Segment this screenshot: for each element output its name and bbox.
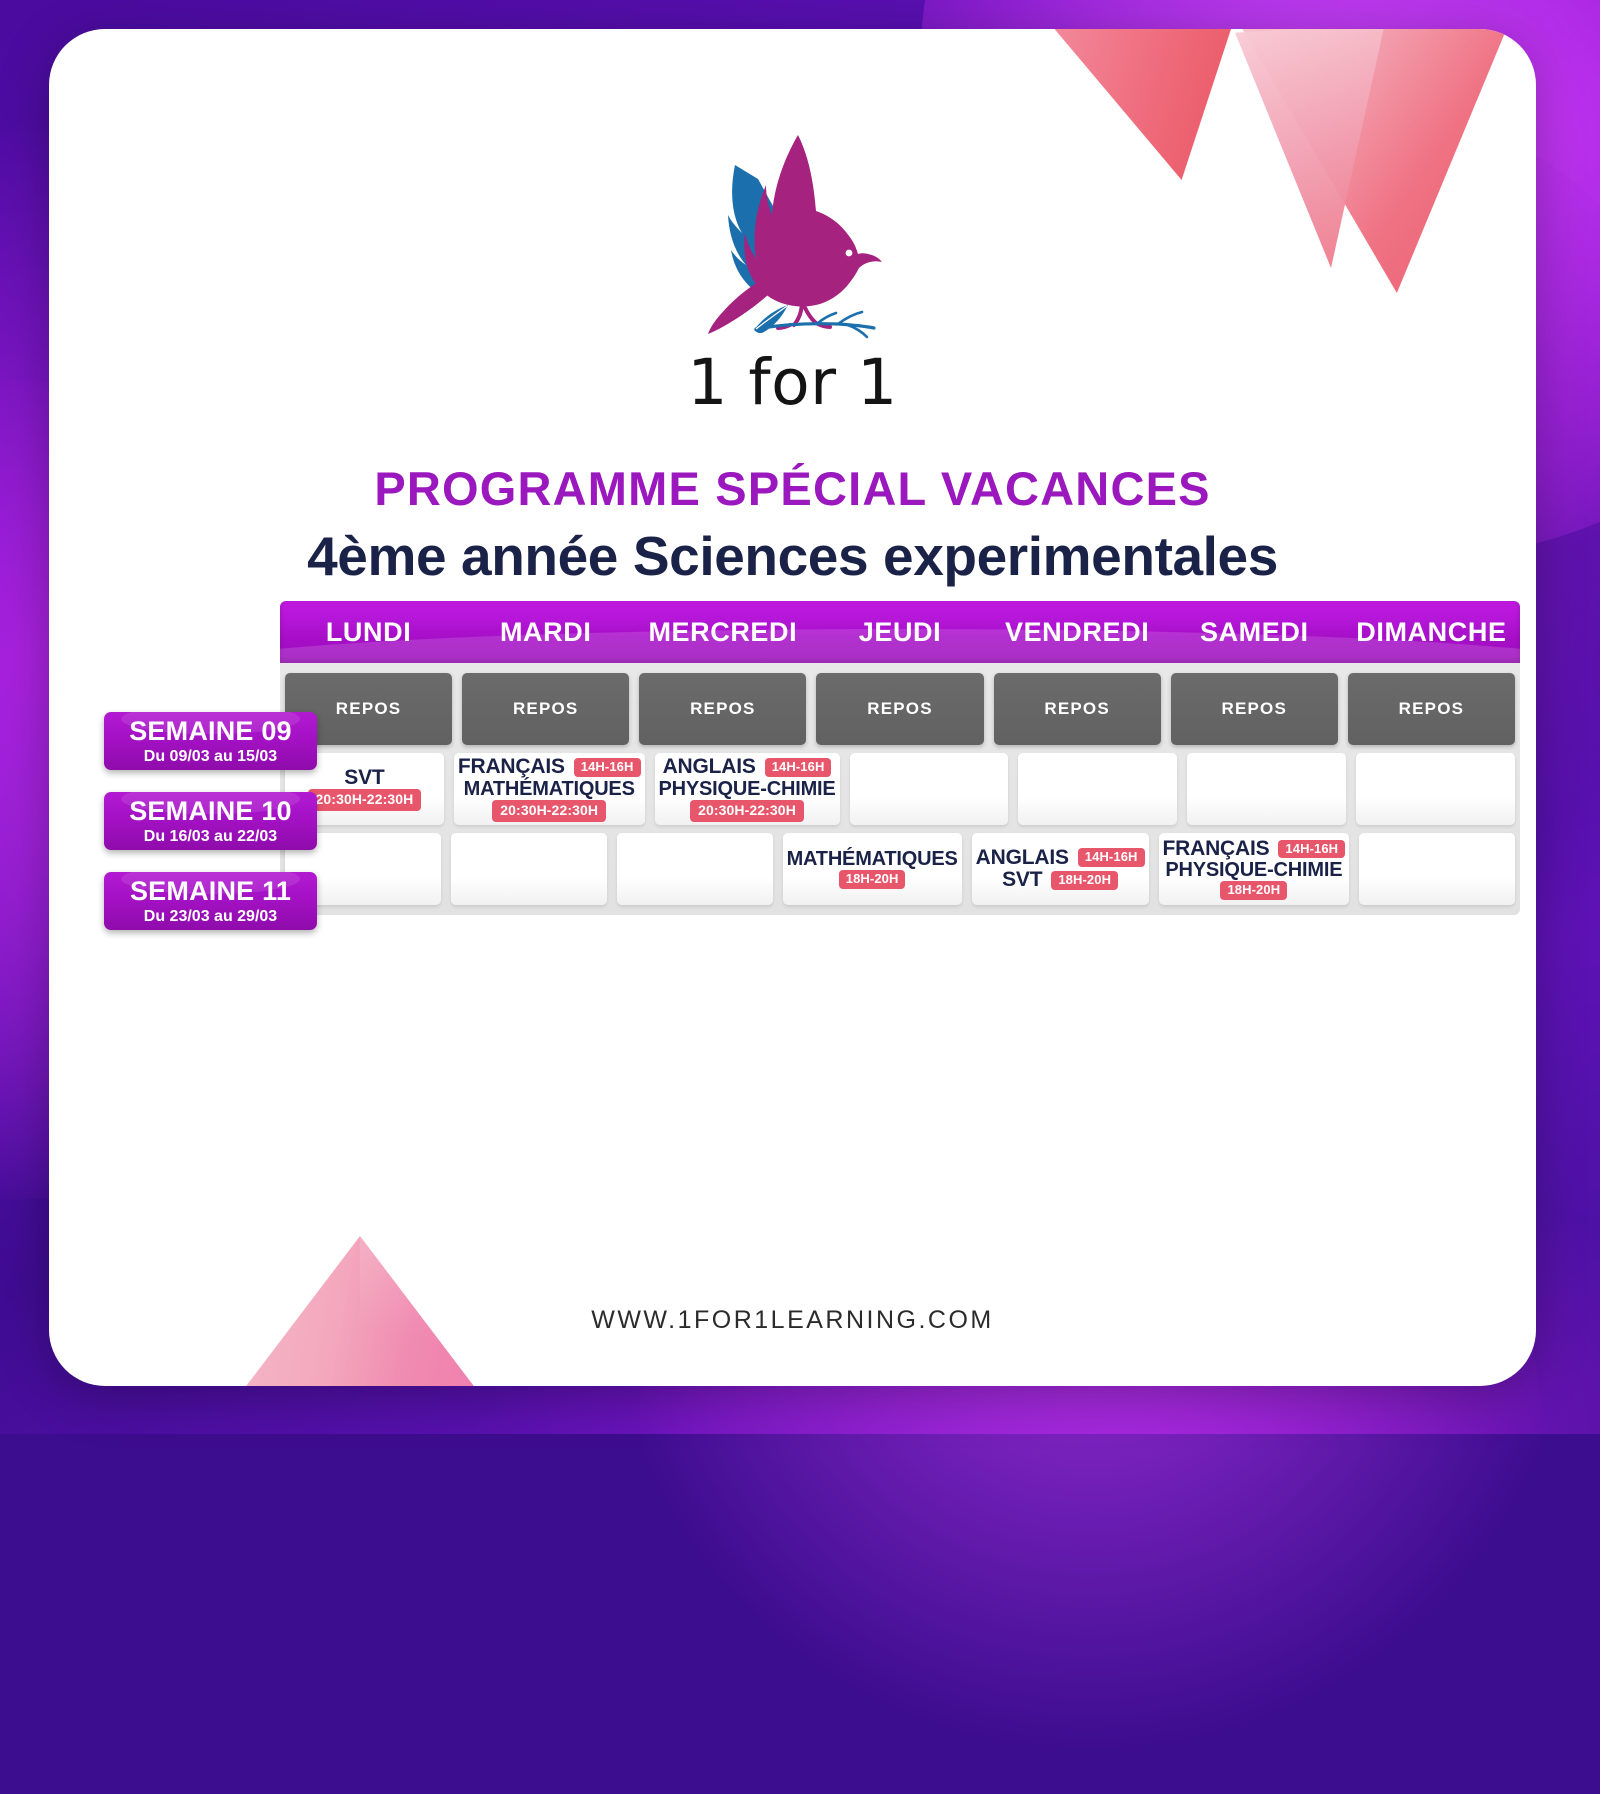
lesson-time-badge: 18H-20H [1051, 871, 1118, 890]
lesson-line: SVT18H-20H [1002, 869, 1118, 891]
schedule-cell-repos[interactable]: REPOS [1171, 673, 1338, 745]
repos-label: REPOS [867, 699, 933, 719]
lesson-subject: SVT [344, 767, 384, 789]
day-header-mardi: MARDI [457, 601, 634, 663]
lesson-time-badge: 18H-20H [1220, 881, 1287, 900]
repos-label: REPOS [336, 699, 402, 719]
week-badge-title: SEMAINE 11 [130, 876, 291, 907]
schedule-cell-repos[interactable]: REPOS [639, 673, 806, 745]
schedule-cell-repos[interactable]: REPOS [462, 673, 629, 745]
schedule-cell-empty[interactable] [1356, 753, 1515, 825]
lesson-line: MATHÉMATIQUES [787, 849, 958, 870]
day-header-mercredi: MERCREDI [634, 601, 811, 663]
schedule-week-row: MATHÉMATIQUES18H-20HANGLAIS14H-16HSVT18H… [280, 833, 1520, 905]
lesson-subject: MATHÉMATIQUES [464, 779, 635, 800]
lesson-line: PHYSIQUE-CHIMIE [1165, 860, 1342, 881]
week-badge-column: SEMAINE 09Du 09/03 au 15/03SEMAINE 10Du … [104, 712, 317, 952]
schedule-cell-lesson[interactable]: ANGLAIS14H-16HSVT18H-20H [972, 833, 1149, 905]
day-header-samedi: SAMEDI [1166, 601, 1343, 663]
bird-logo-icon [698, 129, 888, 344]
schedule-cell-lesson[interactable]: MATHÉMATIQUES18H-20H [783, 833, 962, 905]
schedule-cell-empty[interactable] [451, 833, 607, 905]
week-badge-range: Du 23/03 au 29/03 [144, 908, 277, 926]
week-badge-range: Du 09/03 au 15/03 [144, 748, 277, 766]
lesson-line: 20:30H-22:30H [308, 789, 422, 811]
week-badge[interactable]: SEMAINE 11Du 23/03 au 29/03 [104, 872, 317, 930]
lesson-subject: FRANÇAIS [1163, 838, 1270, 860]
day-header-vendredi: VENDREDI [989, 601, 1166, 663]
lesson-subject: SVT [1002, 869, 1042, 891]
schedule-cell-empty[interactable] [850, 753, 1009, 825]
lesson-time-badge: 14H-16H [1078, 848, 1145, 867]
lesson-time-badge: 20:30H-22:30H [308, 789, 422, 811]
day-header-jeudi: JEUDI [811, 601, 988, 663]
schedule-week-row: REPOSREPOSREPOSREPOSREPOSREPOSREPOS [280, 673, 1520, 745]
lesson-line: ANGLAIS14H-16H [663, 756, 832, 778]
schedule-week-row: SVT20:30H-22:30HFRANÇAIS14H-16HMATHÉMATI… [280, 753, 1520, 825]
day-header-dimanche: DIMANCHE [1343, 601, 1520, 663]
schedule-cell-lesson[interactable]: ANGLAIS14H-16HPHYSIQUE-CHIMIE20:30H-22:3… [655, 753, 840, 825]
repos-label: REPOS [513, 699, 579, 719]
lesson-time-badge: 14H-16H [1278, 840, 1345, 859]
brand-logo: 1 for 1 [49, 129, 1536, 419]
schedule-cell-repos[interactable]: REPOS [994, 673, 1161, 745]
repos-label: REPOS [690, 699, 756, 719]
week-badge[interactable]: SEMAINE 10Du 16/03 au 22/03 [104, 792, 317, 850]
lesson-line: FRANÇAIS14H-16H [1163, 838, 1346, 860]
days-header-bar: LUNDIMARDIMERCREDIJEUDIVENDREDISAMEDIDIM… [280, 601, 1520, 663]
lesson-subject: MATHÉMATIQUES [787, 849, 958, 870]
footer-url: WWW.1FOR1LEARNING.COM [49, 1306, 1536, 1335]
repos-label: REPOS [1399, 699, 1465, 719]
repos-label: REPOS [1222, 699, 1288, 719]
repos-label: REPOS [1044, 699, 1110, 719]
lesson-line: SVT [344, 767, 384, 789]
lesson-line: MATHÉMATIQUES [464, 779, 635, 800]
lesson-line: FRANÇAIS14H-16H [458, 756, 641, 778]
schedule-grid: REPOSREPOSREPOSREPOSREPOSREPOSREPOSSVT20… [280, 663, 1520, 915]
page-subtitle: 4ème année Sciences experimentales [49, 524, 1536, 588]
schedule-cell-empty[interactable] [617, 833, 773, 905]
lesson-time-badge: 14H-16H [765, 758, 832, 777]
lesson-line: 20:30H-22:30H [690, 800, 804, 822]
schedule-cell-empty[interactable] [1018, 753, 1177, 825]
page-title: PROGRAMME SPÉCIAL VACANCES [49, 461, 1536, 516]
week-badge-title: SEMAINE 09 [129, 716, 292, 747]
schedule-cell-empty[interactable] [1359, 833, 1515, 905]
schedule-cell-empty[interactable] [1187, 753, 1346, 825]
lesson-subject: PHYSIQUE-CHIMIE [1165, 860, 1342, 881]
lesson-time-badge: 20:30H-22:30H [690, 800, 804, 822]
week-badge[interactable]: SEMAINE 09Du 09/03 au 15/03 [104, 712, 317, 770]
schedule-cell-lesson[interactable]: FRANÇAIS14H-16HPHYSIQUE-CHIMIE18H-20H [1159, 833, 1350, 905]
schedule-cell-repos[interactable]: REPOS [816, 673, 983, 745]
poster-card: 1 for 1 PROGRAMME SPÉCIAL VACANCES 4ème … [49, 29, 1536, 1386]
lesson-line: 18H-20H [839, 870, 906, 889]
schedule-cell-lesson[interactable]: FRANÇAIS14H-16HMATHÉMATIQUES20:30H-22:30… [454, 753, 645, 825]
day-header-lundi: LUNDI [280, 601, 457, 663]
lesson-line: 20:30H-22:30H [492, 800, 606, 822]
lesson-time-badge: 14H-16H [574, 758, 641, 777]
lesson-subject: PHYSIQUE-CHIMIE [659, 779, 836, 800]
lesson-time-badge: 18H-20H [839, 870, 906, 889]
week-badge-range: Du 16/03 au 22/03 [144, 828, 277, 846]
lesson-line: PHYSIQUE-CHIMIE [659, 779, 836, 800]
lesson-subject: ANGLAIS [976, 847, 1069, 869]
lesson-line: 18H-20H [1220, 881, 1287, 900]
schedule-cell-repos[interactable]: REPOS [1348, 673, 1515, 745]
lesson-time-badge: 20:30H-22:30H [492, 800, 606, 822]
week-badge-title: SEMAINE 10 [129, 796, 292, 827]
lesson-subject: FRANÇAIS [458, 756, 565, 778]
logo-wordmark: 1 for 1 [49, 346, 1536, 419]
lesson-subject: ANGLAIS [663, 756, 756, 778]
lesson-line: ANGLAIS14H-16H [976, 847, 1145, 869]
